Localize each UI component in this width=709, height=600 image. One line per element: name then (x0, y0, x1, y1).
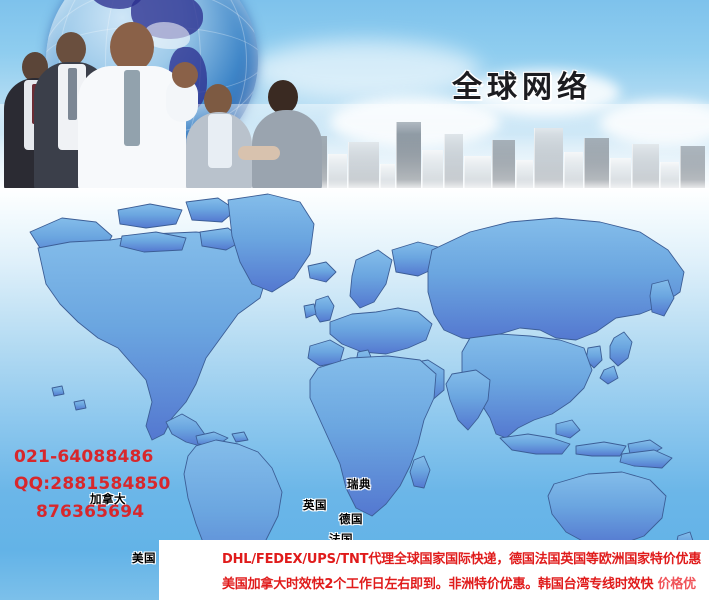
footer-line-1: DHL/FEDEX/UPS/TNT代理全球国家国际快递，德国法国英国等欧洲国家特… (222, 548, 701, 567)
map-label-uk: 英国 (303, 497, 327, 513)
footer-promo-band: DHL/FEDEX/UPS/TNT代理全球国家国际快递，德国法国英国等欧洲国家特… (159, 540, 709, 600)
business-people-photo (0, 0, 330, 190)
map-label-sweden: 瑞典 (347, 476, 371, 492)
map-label-usa: 美国 (132, 550, 156, 566)
contact-qq-secondary: 876365694 (36, 502, 144, 522)
footer-line-2-tail: 价格优 (658, 577, 696, 592)
banner-title: 全球网络 (452, 62, 592, 106)
promo-page: 全球网络 (0, 0, 709, 600)
footer-line-2-main: 美国加拿大时效快2个工作日左右即到。非洲特价优惠。韩国台湾专线时效快 (222, 577, 653, 592)
world-map-area: 加拿大 美国 瑞典 英国 德国 法国 阿拉伯联合酋长国 印度 韩国 台湾 马来西… (0, 188, 709, 600)
map-label-germany: 德国 (339, 511, 363, 527)
footer-line-2: 美国加拿大时效快2个工作日左右即到。非洲特价优惠。韩国台湾专线时效快 价格优 (222, 573, 696, 592)
contact-qq-primary: QQ:2881584850 (14, 474, 171, 494)
hero-banner: 全球网络 (0, 0, 709, 190)
world-map-svg (0, 188, 709, 600)
contact-phone: 021-64088486 (14, 447, 154, 467)
